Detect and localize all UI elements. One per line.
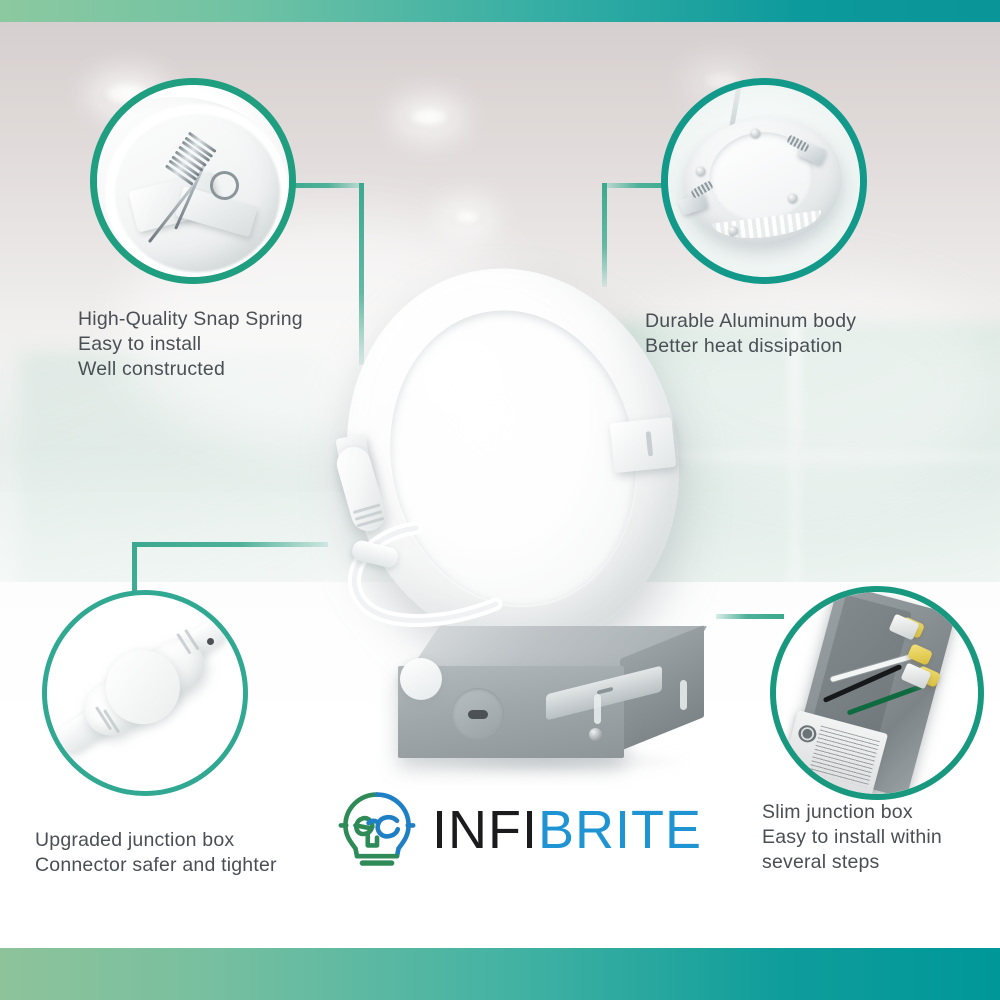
- ceiling-downlight-2: [405, 107, 453, 129]
- infographic-canvas: High-Quality Snap Spring Easy to install…: [0, 0, 1000, 1000]
- ul-listing-mark: [796, 723, 818, 745]
- junction-box-main: [398, 626, 698, 776]
- connector-indicator-dot: [207, 638, 214, 645]
- callout-junction-box: [770, 586, 984, 800]
- brand-logo: INFIBRITE: [338, 788, 700, 872]
- brand-name-part2: BRITE: [538, 800, 702, 860]
- cable-grommet: [400, 658, 442, 700]
- caption-aluminum-body: Durable Aluminum body Better heat dissip…: [645, 309, 856, 359]
- bottom-gradient-bar: [0, 948, 1000, 1000]
- brand-wordmark: INFIBRITE: [432, 803, 702, 857]
- lightbulb-ec-monogram-icon: [338, 790, 416, 870]
- caption-snap-spring: High-Quality Snap Spring Easy to install…: [78, 307, 303, 382]
- junction-box-tab-1: [594, 694, 601, 724]
- caption-junction-box: Slim junction box Easy to install within…: [762, 800, 942, 875]
- callout-junction-box-photo: [776, 592, 978, 794]
- callout-connector: [42, 590, 248, 796]
- knockout-slot: [468, 710, 489, 719]
- top-gradient-bar: [0, 0, 1000, 22]
- ceiling-downlight-3: [450, 210, 484, 226]
- brand-name-part1: INFI: [432, 800, 538, 860]
- junction-box-tab-2: [680, 680, 687, 710]
- junction-box-front: [398, 666, 624, 758]
- caption-connector: Upgraded junction box Connector safer an…: [35, 828, 277, 878]
- bracket-hole: [597, 687, 613, 695]
- callout-snap-spring: [90, 78, 296, 284]
- callout-aluminum-body-photo: [668, 85, 860, 277]
- label-text-lines: [809, 726, 881, 788]
- callout-snap-spring-photo: [97, 85, 289, 277]
- clip-slot: [645, 431, 653, 456]
- callout-connector-photo: [47, 595, 243, 791]
- knockout-circle: [452, 688, 504, 740]
- mounting-clip-right: [610, 417, 677, 473]
- junction-box-screw: [589, 728, 602, 741]
- callout-aluminum-body: [661, 78, 867, 284]
- power-cord: [328, 520, 558, 640]
